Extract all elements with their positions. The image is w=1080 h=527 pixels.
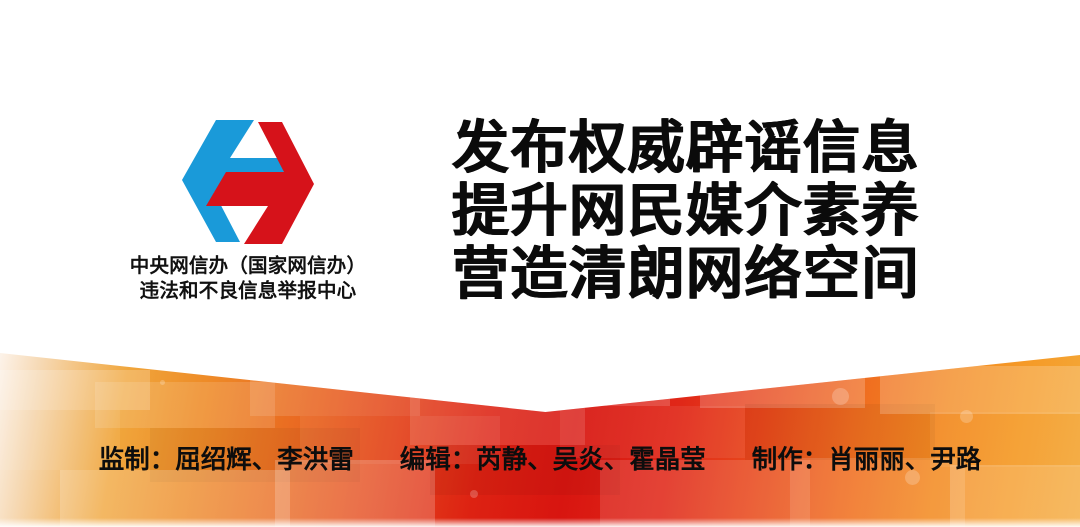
cac-logo-icon — [88, 118, 408, 246]
banner-dot — [832, 388, 849, 405]
headline-block: 发布权威辟谣信息 提升网民媒介素养 营造清朗网络空间 — [452, 116, 962, 305]
bottom-gradient-banner — [0, 340, 1080, 527]
banner-dot — [160, 380, 165, 385]
headline-line-3: 营造清朗网络空间 — [452, 242, 962, 305]
banner-bottom-fade — [0, 518, 1080, 527]
banner-tile — [520, 360, 670, 406]
poster-root: 中央网信办（国家网信办） 违法和不良信息举报中心 发布权威辟谣信息 提升网民媒介… — [0, 0, 1080, 527]
banner-tile — [410, 390, 585, 445]
designer-label: 制作： — [752, 443, 829, 477]
logo-caption-line-2: 违法和不良信息举报中心 — [88, 279, 408, 303]
credits-line: 监制：屈绍辉、李洪雷编辑：芮静、吴炎、霍晶莹制作：肖丽丽、尹路 — [0, 443, 1080, 477]
producer-names: 屈绍辉、李洪雷 — [175, 443, 354, 477]
banner-dot — [470, 490, 478, 498]
producer-label: 监制： — [99, 443, 176, 477]
editor-label: 编辑： — [400, 443, 477, 477]
editor-names: 芮静、吴炎、霍晶莹 — [476, 443, 706, 477]
logo-block: 中央网信办（国家网信办） 违法和不良信息举报中心 — [88, 118, 408, 318]
banner-tile — [250, 364, 420, 416]
banner-dot — [690, 366, 696, 372]
banner-tile — [880, 366, 1080, 414]
banner-tile — [95, 382, 275, 428]
designer-names: 肖丽丽、尹路 — [828, 443, 981, 477]
logo-caption-line-1: 中央网信办（国家网信办） — [88, 254, 408, 278]
headline-line-2: 提升网民媒介素养 — [452, 179, 962, 242]
banner-dot — [960, 410, 973, 423]
headline-line-1: 发布权威辟谣信息 — [452, 116, 962, 179]
